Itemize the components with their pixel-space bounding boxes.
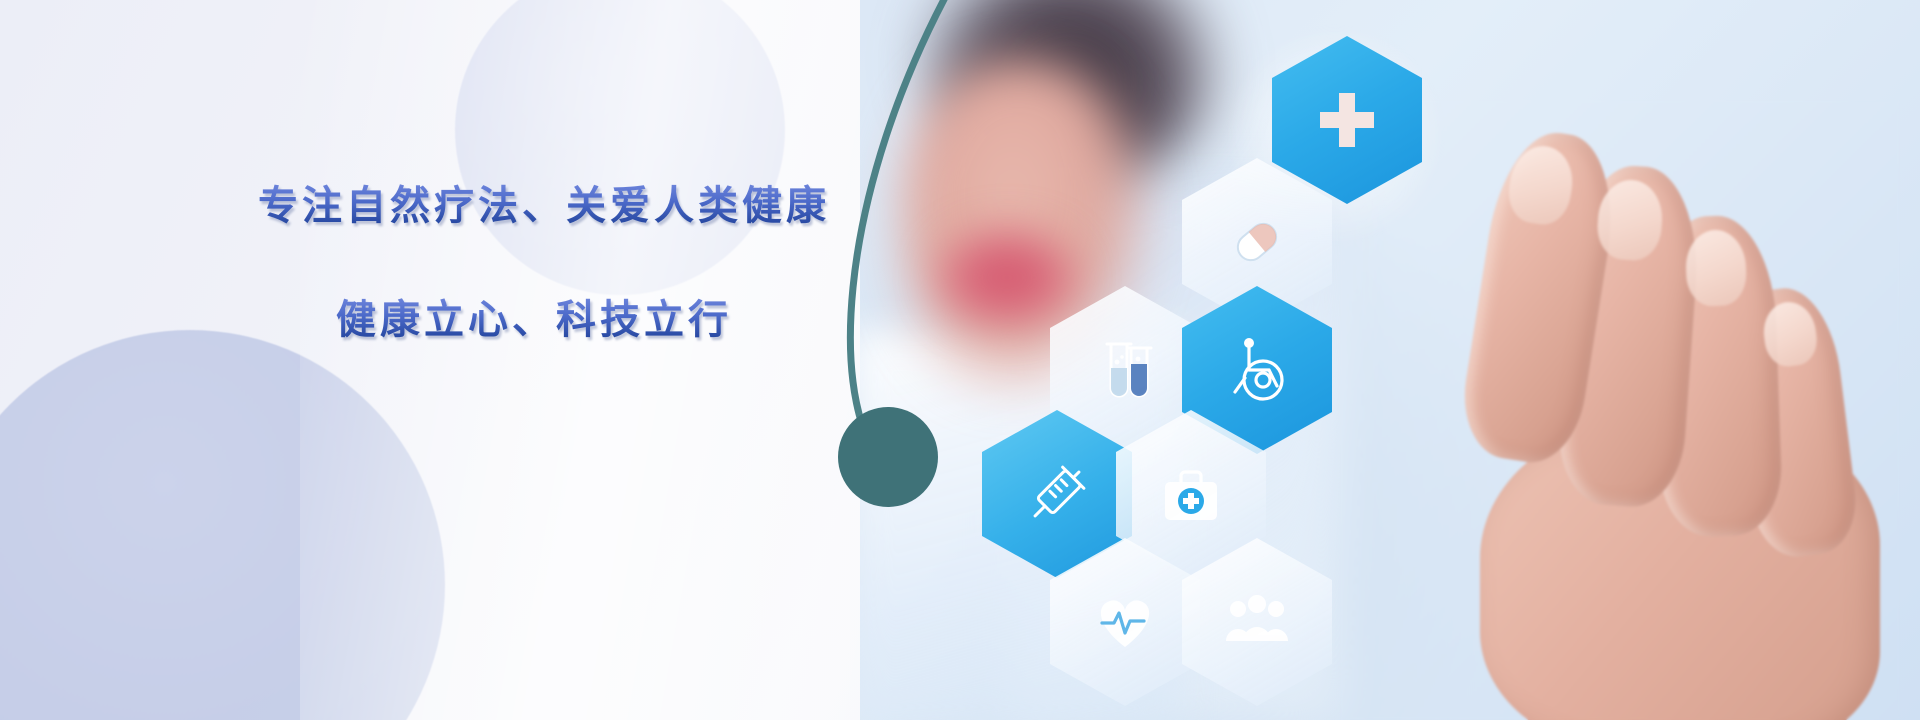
medical-cross-icon <box>1312 85 1382 155</box>
test-tubes-icon <box>1087 332 1163 408</box>
heart-pulse-icon <box>1088 585 1162 659</box>
capsule-pill-icon <box>1218 203 1296 281</box>
wheelchair-icon <box>1219 332 1295 408</box>
family-group-icon <box>1218 583 1296 661</box>
hero-banner: 专注自然疗法、关爱人类健康 健康立心、科技立行 <box>0 0 1920 720</box>
headline-block: 专注自然疗法、关爱人类健康 健康立心、科技立行 <box>258 182 878 344</box>
headline-line-2: 健康立心、科技立行 <box>336 296 878 344</box>
first-aid-kit-icon <box>1153 456 1229 532</box>
hexagon-icon-cluster <box>920 10 1520 720</box>
decorative-circle-bottom <box>0 330 445 720</box>
headline-line-1: 专注自然疗法、关爱人类健康 <box>258 182 878 230</box>
syringe-icon <box>1018 455 1096 533</box>
